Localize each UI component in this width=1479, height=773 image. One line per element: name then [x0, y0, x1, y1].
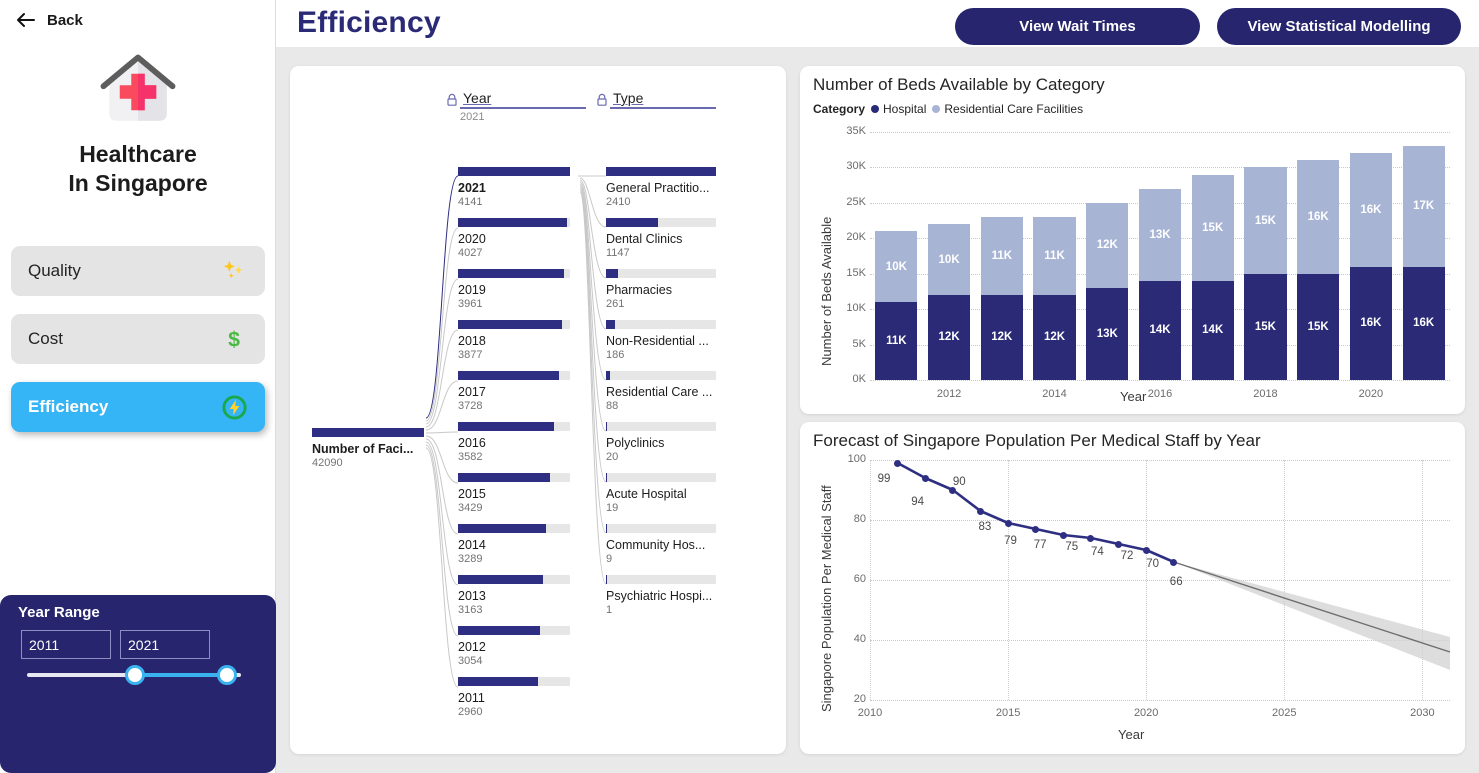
- beds-chart-xlabel: Year: [1120, 389, 1146, 404]
- beds-chart-bar[interactable]: 10K11K: [875, 231, 917, 380]
- legend-item-hospital[interactable]: Hospital: [871, 102, 926, 116]
- tree-node-label: 2020: [458, 232, 570, 246]
- tree-node-value: 261: [606, 298, 716, 310]
- tree-node-bar: [606, 524, 716, 533]
- lightning-bolt-icon: [220, 393, 248, 421]
- tree-node-value: 4027: [458, 247, 570, 259]
- legend-title: Category: [813, 102, 865, 116]
- tree-root-bar-fill: [312, 428, 424, 437]
- year-start-input[interactable]: [21, 630, 111, 659]
- tree-node-label: General Practitio...: [606, 181, 716, 195]
- forecast-chart-point-label: 66: [1170, 576, 1183, 588]
- year-range-slicer: Year Range: [0, 595, 276, 773]
- forecast-chart-point-label: 79: [1004, 535, 1017, 547]
- forecast-chart-point-label: 74: [1091, 546, 1104, 558]
- tree-node-bar: [458, 218, 570, 227]
- forecast-chart-xtick: 2020: [1128, 707, 1164, 719]
- year-range-slider-handle-start[interactable]: [125, 665, 145, 685]
- forecast-chart-point-label: 72: [1121, 550, 1134, 562]
- forecast-chart-series: [800, 422, 1465, 754]
- forecast-chart-xtick: 2025: [1266, 707, 1302, 719]
- beds-chart-ylabel: Number of Beds Available: [819, 217, 834, 366]
- beds-chart-bar-segment-residential[interactable]: 17K: [1403, 146, 1445, 266]
- tree-node-value: 3728: [458, 400, 570, 412]
- forecast-chart-gridline-v: [1146, 460, 1147, 700]
- beds-chart-bar-segment-hospital[interactable]: 12K: [1033, 295, 1075, 380]
- tree-node-bar-fill: [606, 422, 607, 431]
- back-button[interactable]: Back: [14, 8, 83, 32]
- beds-by-category-chart[interactable]: Number of Beds Available by Category Cat…: [800, 66, 1465, 414]
- tree-node-value: 20: [606, 451, 716, 463]
- tree-node-bar-fill: [606, 269, 618, 278]
- sidebar-item-cost-label: Cost: [28, 329, 220, 349]
- tree-node-bar: [606, 167, 716, 176]
- forecast-chart-ylabel: Singapore Population Per Medical Staff: [819, 485, 834, 712]
- forecast-chart-gridline: [870, 520, 1450, 521]
- sidebar-item-quality[interactable]: Quality: [11, 246, 265, 296]
- beds-chart-ytick: 25K: [838, 196, 866, 208]
- tree-column-type-rule: [610, 107, 716, 109]
- tree-node-type[interactable]: Pharmacies261: [606, 269, 716, 310]
- beds-chart-bar-segment-residential[interactable]: 12K: [1086, 203, 1128, 288]
- beds-chart-ytick: 10K: [838, 302, 866, 314]
- beds-chart-bar-segment-hospital[interactable]: 16K: [1403, 267, 1445, 380]
- tree-node-value: 3582: [458, 451, 570, 463]
- tree-node-year[interactable]: 20163582: [458, 422, 570, 463]
- tree-node-type[interactable]: Psychiatric Hospi...1: [606, 575, 716, 616]
- beds-chart-bar-segment-residential[interactable]: 13K: [1139, 189, 1181, 281]
- tree-node-value: 3877: [458, 349, 570, 361]
- forecast-chart-point-label: 94: [911, 496, 924, 508]
- hospital-house-icon: [90, 44, 186, 140]
- report-canvas: Year 2021 Type: [276, 47, 1479, 773]
- tree-node-value: 4141: [458, 196, 570, 208]
- tree-node-value: 3054: [458, 655, 570, 667]
- beds-chart-bar[interactable]: 15K15K: [1244, 167, 1286, 380]
- tree-node-bar-fill: [458, 269, 564, 278]
- beds-chart-bar-segment-residential[interactable]: 11K: [1033, 217, 1075, 295]
- tree-node-value: 2960: [458, 706, 570, 718]
- tree-node-type[interactable]: Residential Care ...88: [606, 371, 716, 412]
- forecast-chart-gridline-v: [1008, 460, 1009, 700]
- beds-chart-bar-segment-residential[interactable]: 15K: [1244, 167, 1286, 273]
- tree-node-label: 2012: [458, 640, 570, 654]
- tree-node-bar-fill: [606, 371, 610, 380]
- forecast-chart-point[interactable]: [1170, 559, 1177, 566]
- year-range-slider-fill: [133, 673, 225, 677]
- back-label: Back: [47, 12, 83, 29]
- beds-chart-bar-segment-residential[interactable]: 10K: [928, 224, 970, 295]
- beds-chart-bar-segment-hospital[interactable]: 16K: [1350, 267, 1392, 380]
- tree-node-value: 9: [606, 553, 716, 565]
- tree-node-year[interactable]: 20112960: [458, 677, 570, 718]
- tree-node-bar: [458, 167, 570, 176]
- beds-chart-ytick: 5K: [838, 338, 866, 350]
- beds-chart-title: Number of Beds Available by Category: [813, 75, 1105, 95]
- beds-chart-xtick: 2018: [1249, 388, 1281, 400]
- forecast-chart-point[interactable]: [1032, 526, 1039, 533]
- beds-chart-legend[interactable]: Category Hospital Residential Care Facil…: [813, 102, 1083, 116]
- tree-node-label: Acute Hospital: [606, 487, 716, 501]
- forecast-chart-gridline: [870, 580, 1450, 581]
- tree-node-bar-fill: [458, 626, 540, 635]
- beds-chart-bar-segment-hospital[interactable]: 15K: [1244, 274, 1286, 380]
- tree-node-bar: [458, 575, 570, 584]
- tree-root-label: Number of Faci...: [312, 442, 424, 456]
- tree-node-type[interactable]: General Practitio...2410: [606, 167, 716, 208]
- forecast-chart-point-label: 75: [1065, 541, 1078, 553]
- beds-chart-gridline: [870, 380, 1450, 381]
- beds-chart-bar-segment-hospital[interactable]: 12K: [928, 295, 970, 380]
- tree-node-bar: [606, 422, 716, 431]
- app-logo: [0, 44, 276, 145]
- forecast-chart-point-label: 83: [978, 521, 991, 533]
- tree-node-label: Residential Care ...: [606, 385, 716, 399]
- tree-column-year-label: Year: [463, 90, 491, 108]
- tree-node-bar: [458, 473, 570, 482]
- tree-node-type[interactable]: Non-Residential ...186: [606, 320, 716, 361]
- beds-chart-bar-segment-residential[interactable]: 11K: [981, 217, 1023, 295]
- forecast-chart-point[interactable]: [977, 508, 984, 515]
- tree-node-label: 2018: [458, 334, 570, 348]
- year-range-inputs: [21, 630, 210, 659]
- tree-node-value: 2410: [606, 196, 716, 208]
- tree-node-label: 2021: [458, 181, 570, 195]
- legend-swatch-hospital: [871, 105, 879, 113]
- tree-node-bar-fill: [458, 575, 543, 584]
- beds-chart-ytick: 0K: [838, 373, 866, 385]
- sparkles-icon: [220, 257, 248, 285]
- sidebar-item-efficiency[interactable]: Efficiency: [11, 382, 265, 432]
- tree-node-bar-fill: [458, 218, 567, 227]
- beds-chart-xtick: 2020: [1355, 388, 1387, 400]
- view-wait-times-button[interactable]: View Wait Times: [955, 8, 1200, 45]
- tree-node-label: Psychiatric Hospi...: [606, 589, 716, 603]
- tree-node-label: 2016: [458, 436, 570, 450]
- tree-node-label: 2015: [458, 487, 570, 501]
- tree-node-value: 1: [606, 604, 716, 616]
- tree-column-year[interactable]: Year: [446, 90, 491, 108]
- beds-chart-ytick: 30K: [838, 160, 866, 172]
- beds-chart-bar-segment-hospital[interactable]: 14K: [1139, 281, 1181, 380]
- tree-node-value: 1147: [606, 247, 716, 259]
- tree-node-value: 19: [606, 502, 716, 514]
- sidebar: Back Healthcare In Singapore Quality: [0, 0, 276, 773]
- tree-node-label: 2013: [458, 589, 570, 603]
- tree-node-year[interactable]: 20193961: [458, 269, 570, 310]
- forecast-chart[interactable]: Forecast of Singapore Population Per Med…: [800, 422, 1465, 754]
- tree-node-year[interactable]: 20214141: [458, 167, 570, 208]
- beds-chart-bar-segment-hospital[interactable]: 11K: [875, 302, 917, 380]
- tree-node-year[interactable]: 20123054: [458, 626, 570, 667]
- tree-node-label: Community Hos...: [606, 538, 716, 552]
- tree-node-bar: [458, 677, 570, 686]
- forecast-chart-ytick: 20: [838, 693, 866, 705]
- beds-chart-bar-segment-hospital[interactable]: 14K: [1192, 281, 1234, 380]
- forecast-chart-gridline: [870, 460, 1450, 461]
- beds-chart-gridline: [870, 132, 1450, 133]
- year-range-slider[interactable]: [27, 673, 241, 677]
- main-area: Efficiency View Wait Times View Statisti…: [276, 0, 1479, 773]
- dashboard-root: Back Healthcare In Singapore Quality: [0, 0, 1479, 773]
- tree-node-bar-fill: [458, 422, 554, 431]
- beds-chart-bar-segment-hospital[interactable]: 15K: [1297, 274, 1339, 380]
- tree-root-value: 42090: [312, 457, 424, 469]
- tree-node-bar: [458, 371, 570, 380]
- beds-chart-bar-segment-hospital[interactable]: 13K: [1086, 288, 1128, 380]
- tree-node-bar: [606, 218, 716, 227]
- beds-chart-ytick: 35K: [838, 125, 866, 137]
- forecast-chart-gridline: [870, 640, 1450, 641]
- tree-node-bar-fill: [458, 320, 562, 329]
- forecast-chart-point-label: 90: [953, 476, 966, 488]
- lock-icon: [446, 93, 458, 107]
- tree-column-year-sub: 2021: [460, 111, 484, 123]
- tree-node-bar: [606, 575, 716, 584]
- forecast-chart-point-label: 70: [1146, 558, 1159, 570]
- forecast-chart-point[interactable]: [894, 460, 901, 467]
- tree-node-bar: [606, 320, 716, 329]
- view-statistical-modelling-button[interactable]: View Statistical Modelling: [1217, 8, 1461, 45]
- beds-chart-xtick: 2012: [933, 388, 965, 400]
- forecast-chart-xtick: 2015: [990, 707, 1026, 719]
- forecast-chart-gridline: [870, 700, 1450, 701]
- beds-chart-xtick: 2014: [1039, 388, 1071, 400]
- beds-chart-bar[interactable]: 16K16K: [1350, 153, 1392, 380]
- tree-node-bar-fill: [458, 677, 538, 686]
- tree-node-label: 2019: [458, 283, 570, 297]
- forecast-chart-point[interactable]: [1005, 520, 1012, 527]
- tree-node-year[interactable]: 20173728: [458, 371, 570, 412]
- tree-node-bar-fill: [458, 167, 570, 176]
- beds-chart-bar[interactable]: 13K14K: [1139, 189, 1181, 380]
- legend-swatch-residential: [932, 105, 940, 113]
- tree-node-bar: [458, 320, 570, 329]
- forecast-chart-point[interactable]: [1060, 532, 1067, 539]
- tree-node-year[interactable]: 20133163: [458, 575, 570, 616]
- tree-node-label: Dental Clinics: [606, 232, 716, 246]
- tree-node-year[interactable]: 20183877: [458, 320, 570, 361]
- forecast-chart-point[interactable]: [1087, 535, 1094, 542]
- forecast-chart-gridline-v: [1422, 460, 1423, 700]
- forecast-chart-gridline-v: [870, 460, 871, 700]
- forecast-chart-title: Forecast of Singapore Population Per Med…: [813, 431, 1261, 451]
- forecast-chart-point-label: 77: [1034, 539, 1047, 551]
- tree-node-bar-fill: [606, 320, 615, 329]
- tree-node-label: Pharmacies: [606, 283, 716, 297]
- tree-node-bar: [458, 422, 570, 431]
- brand-line-2: In Singapore: [0, 169, 276, 198]
- tree-node-bar-fill: [458, 371, 559, 380]
- tree-node-bar: [606, 371, 716, 380]
- beds-chart-bar-segment-hospital[interactable]: 12K: [981, 295, 1023, 380]
- year-end-input[interactable]: [120, 630, 210, 659]
- sidebar-item-quality-label: Quality: [28, 261, 220, 281]
- beds-chart-bar-segment-residential[interactable]: 10K: [875, 231, 917, 302]
- brand-line-1: Healthcare: [0, 140, 276, 169]
- tree-column-type[interactable]: Type: [596, 90, 643, 108]
- forecast-chart-xtick: 2010: [852, 707, 888, 719]
- tree-node-type[interactable]: Dental Clinics1147: [606, 218, 716, 259]
- beds-chart-bar[interactable]: 10K12K: [928, 224, 970, 380]
- sidebar-item-cost[interactable]: Cost $: [11, 314, 265, 364]
- beds-chart-bar-segment-residential[interactable]: 15K: [1192, 175, 1234, 281]
- beds-chart-bar[interactable]: 16K15K: [1297, 160, 1339, 380]
- lock-icon: [596, 93, 608, 107]
- beds-chart-bar-segment-residential[interactable]: 16K: [1350, 153, 1392, 266]
- tree-node-value: 88: [606, 400, 716, 412]
- legend-item-residential[interactable]: Residential Care Facilities: [932, 102, 1083, 116]
- beds-chart-bar[interactable]: 15K14K: [1192, 175, 1234, 380]
- beds-chart-ytick: 20K: [838, 231, 866, 243]
- tree-column-year-rule: [460, 107, 586, 109]
- forecast-chart-point[interactable]: [1115, 541, 1122, 548]
- year-range-slider-handle-end[interactable]: [217, 665, 237, 685]
- legend-label-residential: Residential Care Facilities: [944, 102, 1083, 116]
- forecast-chart-ytick: 80: [838, 513, 866, 525]
- dollar-icon: $: [220, 325, 248, 353]
- legend-label-hospital: Hospital: [883, 102, 926, 116]
- tree-node-bar-fill: [606, 218, 658, 227]
- forecast-chart-xlabel: Year: [1118, 727, 1144, 742]
- tree-node-bar-fill: [606, 524, 607, 533]
- forecast-chart-ytick: 60: [838, 573, 866, 585]
- tree-node-value: 186: [606, 349, 716, 361]
- beds-chart-bar-segment-residential[interactable]: 16K: [1297, 160, 1339, 273]
- tree-node-type[interactable]: Acute Hospital19: [606, 473, 716, 514]
- tree-node-label: Polyclinics: [606, 436, 716, 450]
- brand-title: Healthcare In Singapore: [0, 140, 276, 199]
- sidebar-nav: Quality Cost $ Efficien: [11, 246, 265, 450]
- top-bar: Efficiency View Wait Times View Statisti…: [276, 0, 1479, 47]
- tree-node-label: 2014: [458, 538, 570, 552]
- tree-node-bar-fill: [606, 167, 716, 176]
- tree-node-year[interactable]: 20204027: [458, 218, 570, 259]
- tree-node-bar-fill: [606, 473, 607, 482]
- tree-node-bar-fill: [458, 524, 546, 533]
- tree-node-year[interactable]: 20143289: [458, 524, 570, 565]
- tree-node-bar: [458, 269, 570, 278]
- tree-node-value: 3961: [458, 298, 570, 310]
- forecast-chart-xtick: 2030: [1404, 707, 1440, 719]
- tree-node-value: 3429: [458, 502, 570, 514]
- tree-node-value: 3163: [458, 604, 570, 616]
- beds-chart-bar[interactable]: 11K12K: [981, 217, 1023, 380]
- sidebar-item-efficiency-label: Efficiency: [28, 397, 220, 417]
- tree-column-type-label: Type: [613, 90, 643, 108]
- tree-node-bar: [606, 473, 716, 482]
- tree-node-year[interactable]: 20153429: [458, 473, 570, 514]
- tree-node-bar-fill: [458, 473, 550, 482]
- tree-node-label: Non-Residential ...: [606, 334, 716, 348]
- beds-chart-ytick: 15K: [838, 267, 866, 279]
- tree-node-type[interactable]: Community Hos...9: [606, 524, 716, 565]
- tree-node-bar: [606, 269, 716, 278]
- tree-root-bar: [312, 428, 424, 437]
- tree-node-label: 2017: [458, 385, 570, 399]
- tree-node-bar: [458, 524, 570, 533]
- forecast-chart-point[interactable]: [1143, 547, 1150, 554]
- forecast-chart-point[interactable]: [922, 475, 929, 482]
- forecast-chart-point-label: 99: [878, 473, 891, 485]
- svg-text:$: $: [228, 327, 240, 351]
- back-arrow-icon: [14, 8, 38, 32]
- beds-chart-bar[interactable]: 12K13K: [1086, 203, 1128, 380]
- tree-node-value: 3289: [458, 553, 570, 565]
- year-range-title: Year Range: [18, 604, 100, 621]
- tree-node-bar: [458, 626, 570, 635]
- beds-chart-bar[interactable]: 11K12K: [1033, 217, 1075, 380]
- forecast-chart-ytick: 40: [838, 633, 866, 645]
- beds-chart-xtick: 2016: [1144, 388, 1176, 400]
- page-title: Efficiency: [297, 6, 441, 40]
- decomposition-tree-visual[interactable]: Year 2021 Type: [290, 66, 786, 754]
- tree-node-label: 2011: [458, 691, 570, 705]
- forecast-chart-gridline-v: [1284, 460, 1285, 700]
- forecast-chart-ytick: 100: [838, 453, 866, 465]
- tree-root-node[interactable]: Number of Faci... 42090: [312, 428, 424, 469]
- tree-node-type[interactable]: Polyclinics20: [606, 422, 716, 463]
- beds-chart-bar[interactable]: 17K16K: [1403, 146, 1445, 380]
